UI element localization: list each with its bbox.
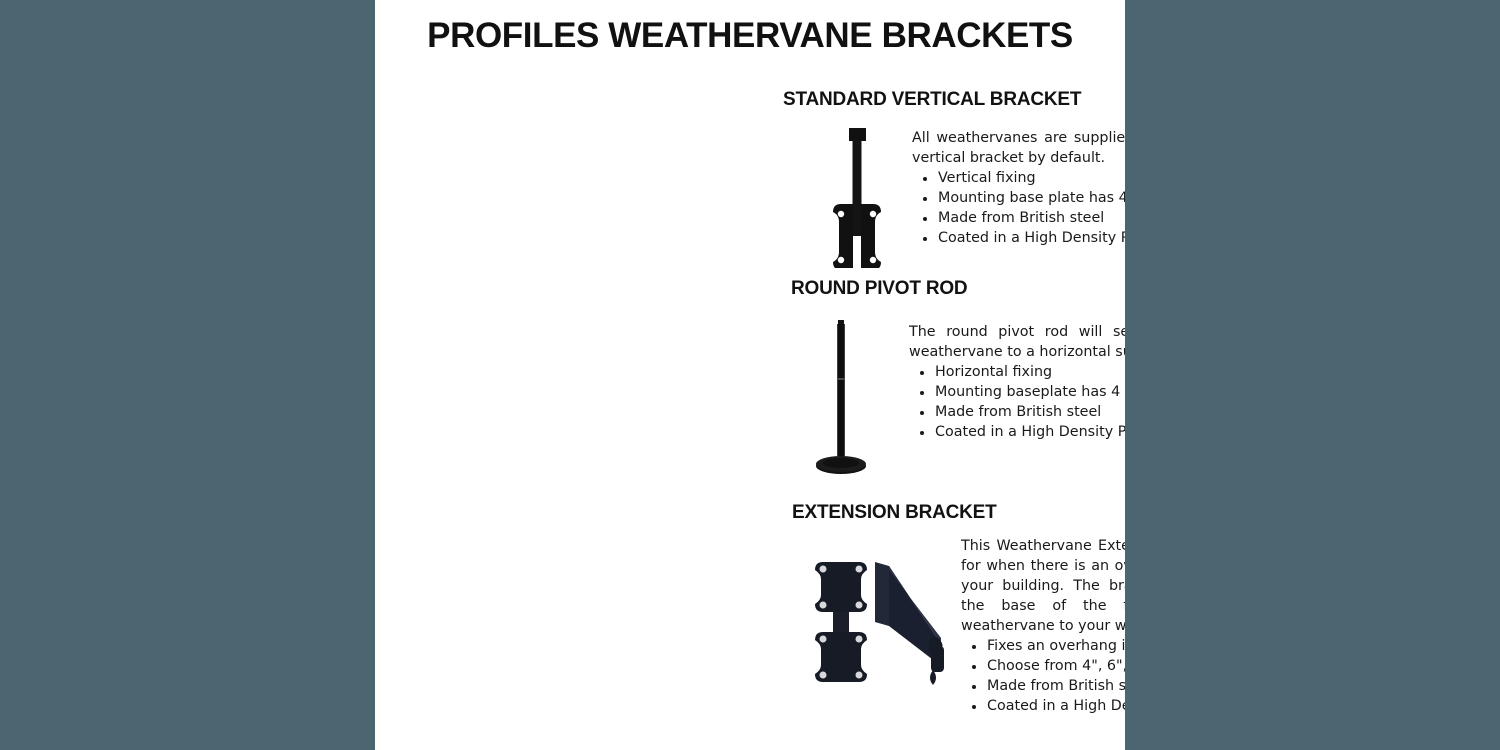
- list-item: Coated in a High Density Polyethylene: [912, 228, 1125, 248]
- list-item: Made from British steel: [961, 676, 1125, 696]
- list-item: Made from British steel: [912, 208, 1125, 228]
- list-item: Choose from 4", 6", 8", 10" and 12" size…: [961, 656, 1125, 676]
- list-item: Made from British steel: [909, 402, 1125, 422]
- section-body-round-pivot-rod: The round pivot rod will securely fasten…: [909, 322, 1125, 442]
- section-heading-extension-bracket: EXTENSION BRACKET: [792, 502, 997, 524]
- list-item: Coated in a High Density Polyethylene: [961, 696, 1125, 716]
- round-pivot-rod-illustration: [811, 318, 873, 476]
- page-title: PROFILES WEATHERVANE BRACKETS: [375, 16, 1125, 56]
- section-heading-standard-vertical-bracket: STANDARD VERTICAL BRACKET: [783, 89, 1081, 111]
- list-item: Fixes an overhang issue: [961, 636, 1125, 656]
- bullet-list: Fixes an overhang issue Choose from 4", …: [961, 636, 1125, 716]
- list-item: Horizontal fixing: [909, 362, 1125, 382]
- list-item: Mounting base plate has 4 holes: [912, 188, 1125, 208]
- section-heading-round-pivot-rod: ROUND PIVOT ROD: [791, 278, 967, 300]
- standard-vertical-bracket-illustration: [809, 128, 905, 268]
- list-item: Mounting baseplate has 4 holes: [909, 382, 1125, 402]
- list-item: Coated in a High Density Polyethylene: [909, 422, 1125, 442]
- extension-bracket-illustration: [803, 548, 953, 688]
- bullet-list: Horizontal fixing Mounting baseplate has…: [909, 362, 1125, 442]
- document-page: PROFILES WEATHERVANE BRACKETS STANDARD V…: [375, 0, 1125, 750]
- section-paragraph: The round pivot rod will securely fasten…: [909, 322, 1125, 362]
- section-body-standard-vertical-bracket: All weathervanes are supplied with this …: [912, 128, 1125, 248]
- list-item: Vertical fixing: [912, 168, 1125, 188]
- section-paragraph: All weathervanes are supplied with this …: [912, 128, 1125, 168]
- section-body-extension-bracket: This Weathervane Extension Bracket is pe…: [961, 536, 1125, 716]
- bullet-list: Vertical fixing Mounting base plate has …: [912, 168, 1125, 248]
- section-paragraph: This Weathervane Extension Bracket is pe…: [961, 536, 1125, 636]
